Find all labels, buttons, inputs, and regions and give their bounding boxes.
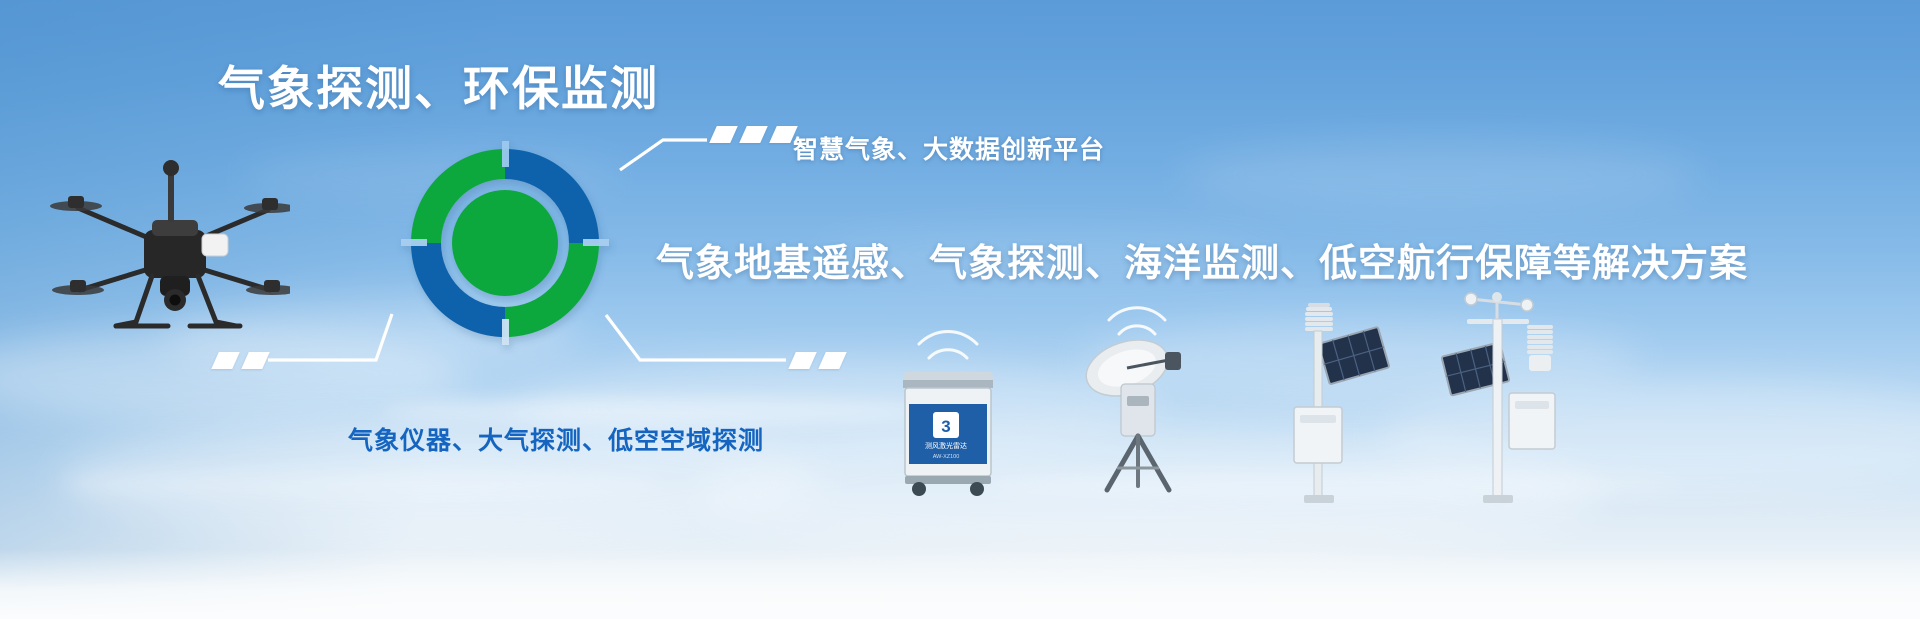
- automatic-weather-station: [1415, 275, 1575, 505]
- slash-accent-bottom-left: [215, 352, 266, 369]
- label-instruments: 气象仪器、大气探测、低空空域探测: [348, 421, 764, 457]
- label-solutions: 气象地基遥感、气象探测、海洋监测、低空航行保障等解决方案: [656, 232, 1748, 287]
- solar-weather-station: [1278, 295, 1398, 505]
- slash-accent-top: [713, 126, 794, 143]
- lidar-model-text: AW-XZ100: [933, 454, 960, 460]
- cloud-shape: [1180, 140, 1700, 210]
- page-title: 气象探测、环保监测: [218, 50, 659, 119]
- slash-icon: [211, 352, 240, 369]
- banner-stage: 气象探测、环保监测: [0, 0, 1920, 619]
- slash-icon: [241, 352, 270, 369]
- lidar-brand-text: 测风激光雷达: [925, 441, 967, 450]
- ground-fade: [0, 549, 1920, 619]
- satellite-dish-tripod: [1073, 300, 1203, 500]
- slash-icon: [739, 126, 768, 143]
- label-smart-meteorology: 智慧气象、大数据创新平台: [793, 130, 1105, 166]
- drone-illustration: [40, 150, 290, 350]
- slash-icon: [818, 352, 847, 369]
- slash-icon: [709, 126, 738, 143]
- slash-accent-bottom-right: [792, 352, 843, 369]
- slash-icon: [788, 352, 817, 369]
- circular-ring-logo: [393, 131, 617, 355]
- wind-lidar-cabinet: 3 测风激光雷达 AW-XZ100: [893, 300, 1003, 500]
- svg-text:3: 3: [941, 417, 950, 436]
- cloud-wisp: [60, 470, 660, 498]
